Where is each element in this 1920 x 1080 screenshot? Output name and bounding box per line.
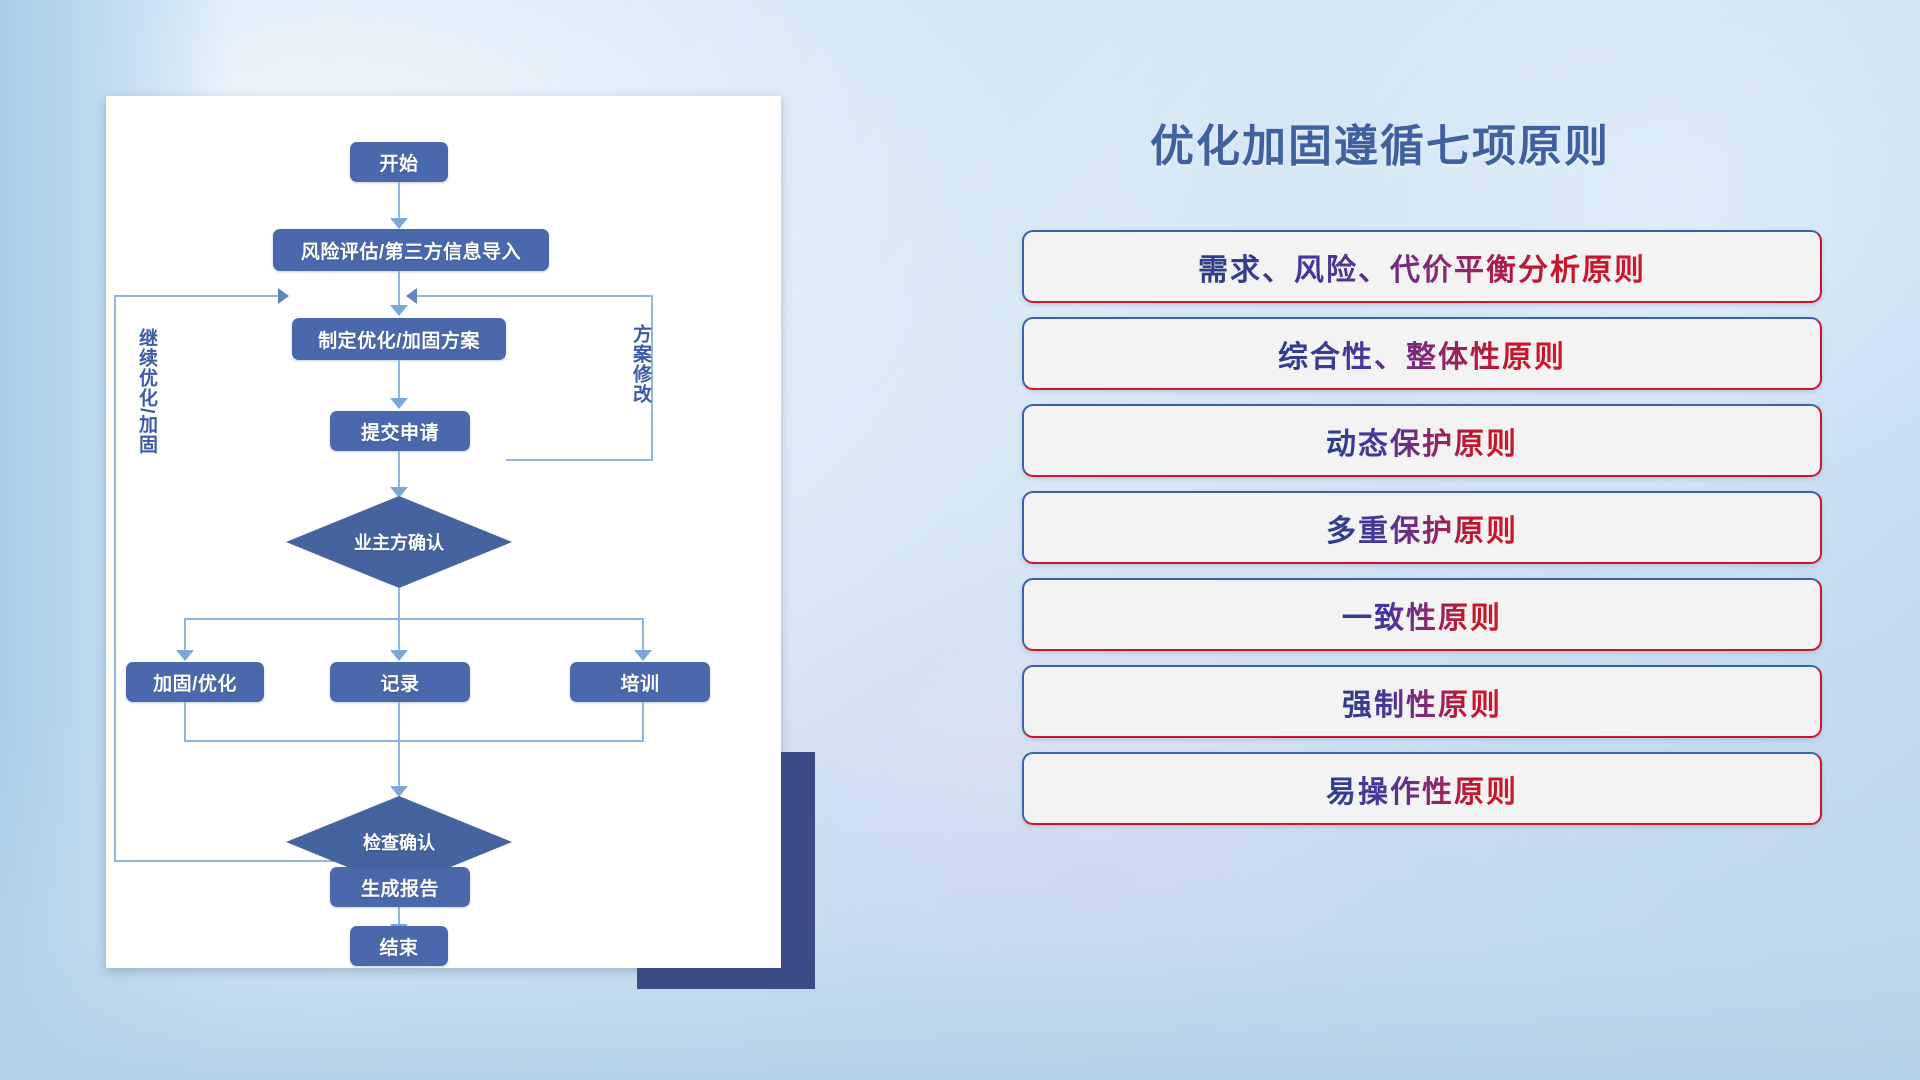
flowchart-card: 继续优化/加固 方案修改 开始 风险评估/第三方信息导入 制定优化/加固方案 提… — [106, 96, 781, 968]
edge-left-loop-arrow — [278, 288, 289, 304]
edge-right-loop-vertical — [651, 295, 653, 460]
principle-item-4[interactable]: 多重保护原则 — [1022, 491, 1822, 564]
edge-fanin-to-check-arrow — [390, 786, 408, 797]
principles-title: 优化加固遵循七项原则 — [1150, 110, 1610, 174]
principle-label: 强制性原则 — [1342, 680, 1502, 724]
edge-start-to-risk-arrow — [390, 218, 408, 229]
principle-item-7[interactable]: 易操作性原则 — [1022, 752, 1822, 825]
edge-start-to-risk — [398, 182, 400, 222]
principles-list: 需求、风险、代价平衡分析原则 综合性、整体性原则 动态保护原则 多重保护原则 一… — [1022, 230, 1822, 839]
edge-fanout-left-drop — [184, 618, 186, 654]
flow-node-training[interactable]: 培训 — [570, 662, 710, 702]
edge-fanin-left-riser — [184, 702, 186, 742]
flow-node-record[interactable]: 记录 — [330, 662, 470, 702]
edge-plan-to-submit-arrow — [390, 398, 408, 409]
edge-fanin-bar — [184, 740, 644, 742]
principles-panel: 优化加固遵循七项原则 需求、风险、代价平衡分析原则 综合性、整体性原则 动态保护… — [1000, 0, 1920, 1080]
edge-fanout-bar — [184, 618, 644, 620]
edge-fanout-right-arrow — [634, 650, 652, 661]
flow-node-submit-application[interactable]: 提交申请 — [330, 411, 470, 451]
edge-fanout-right-drop — [642, 618, 644, 654]
principle-label: 综合性、整体性原则 — [1278, 332, 1566, 376]
edge-fanin-right-riser — [642, 702, 644, 742]
edge-right-loop-arrow — [406, 288, 417, 304]
flow-node-risk-assessment[interactable]: 风险评估/第三方信息导入 — [273, 229, 549, 271]
edge-fanout-left-arrow — [176, 650, 194, 661]
flow-node-owner-confirmation[interactable]: 业主方确认 — [286, 496, 512, 588]
flowchart-panel: 继续优化/加固 方案修改 开始 风险评估/第三方信息导入 制定优化/加固方案 提… — [0, 0, 840, 1080]
flow-node-start[interactable]: 开始 — [350, 142, 448, 182]
principle-item-2[interactable]: 综合性、整体性原则 — [1022, 317, 1822, 390]
principle-label: 需求、风险、代价平衡分析原则 — [1198, 245, 1646, 289]
edge-fanout-mid-arrow — [390, 650, 408, 661]
principle-label: 动态保护原则 — [1326, 419, 1518, 463]
edge-fanin-to-check — [398, 702, 400, 790]
edge-left-loop-bottom — [114, 860, 369, 862]
edge-risk-to-plan — [398, 271, 400, 309]
principle-item-6[interactable]: 强制性原则 — [1022, 665, 1822, 738]
edge-right-loop-bottom — [506, 459, 653, 461]
edge-right-loop-top — [417, 295, 653, 297]
edge-label-plan-revision: 方案修改 — [630, 324, 650, 404]
principle-item-1[interactable]: 需求、风险、代价平衡分析原则 — [1022, 230, 1822, 303]
principle-item-3[interactable]: 动态保护原则 — [1022, 404, 1822, 477]
principle-label: 一致性原则 — [1342, 593, 1502, 637]
edge-submit-to-owner — [398, 451, 400, 491]
principle-label: 多重保护原则 — [1326, 506, 1518, 550]
edge-left-loop-top — [114, 295, 284, 297]
edge-risk-to-plan-arrow — [390, 305, 408, 316]
flow-node-make-plan[interactable]: 制定优化/加固方案 — [292, 318, 506, 360]
principle-label: 易操作性原则 — [1326, 767, 1518, 811]
edge-plan-to-submit — [398, 360, 400, 402]
principle-item-5[interactable]: 一致性原则 — [1022, 578, 1822, 651]
flow-node-reinforce-optimize[interactable]: 加固/优化 — [126, 662, 264, 702]
edge-left-loop-vertical — [114, 295, 116, 862]
flowchart-diagram: 继续优化/加固 方案修改 开始 风险评估/第三方信息导入 制定优化/加固方案 提… — [106, 96, 781, 968]
edge-label-continue-optimize: 继续优化/加固 — [136, 328, 156, 454]
flow-node-generate-report[interactable]: 生成报告 — [330, 867, 470, 907]
flow-node-end[interactable]: 结束 — [350, 926, 448, 966]
